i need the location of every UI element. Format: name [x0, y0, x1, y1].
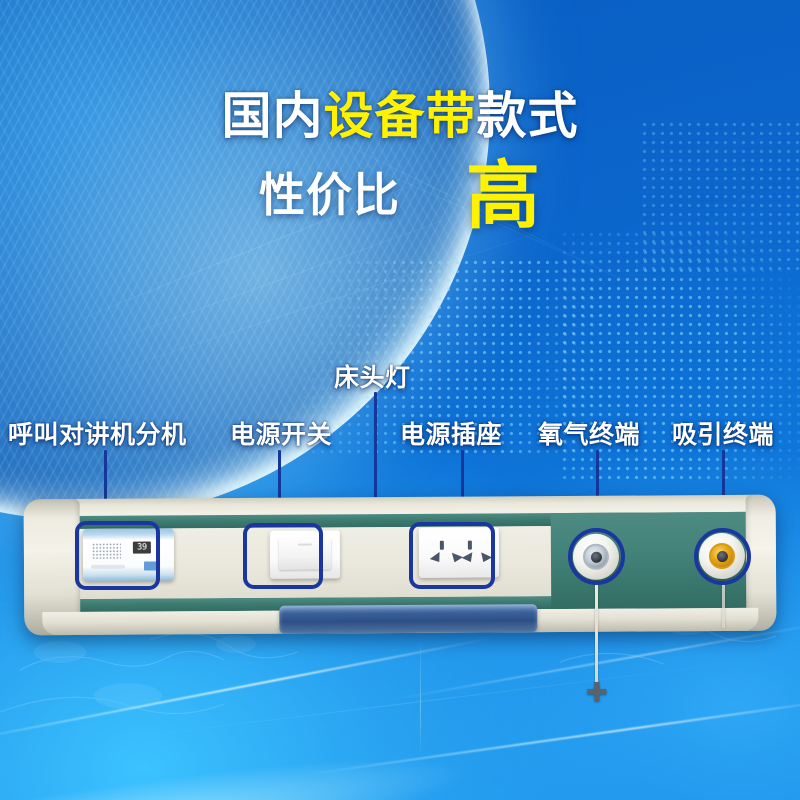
power-socket[interactable]: [419, 527, 499, 577]
headline-line-2: 性价比高: [0, 165, 800, 226]
socket-prong-icon: [449, 553, 463, 565]
socket-prong-icon: [430, 552, 444, 565]
headline-line-2-highlight: 高: [466, 154, 541, 237]
headline-line-1-part2: 款式: [477, 88, 579, 144]
nurse-call-intercom-unit[interactable]: 39: [83, 528, 174, 581]
suction-terminal-core: [709, 543, 735, 569]
callout-label-oxygen: 氧气终端: [538, 415, 640, 451]
terminal-lanyard: [722, 584, 725, 628]
speaker-grille-icon: [92, 543, 121, 559]
panel-body: 39: [24, 495, 777, 636]
suction-terminal[interactable]: [699, 533, 745, 579]
terminal-port-icon: [590, 551, 601, 562]
medical-bed-head-unit: 39: [24, 497, 776, 633]
socket-prong-icon: [462, 552, 476, 565]
socket-pin-icon: [440, 541, 444, 550]
intercom-call-button[interactable]: [144, 561, 157, 570]
product-banner: 国内设备带款式 性价比高 呼叫对讲机分机 电源开关 床头灯 电源插座 氧气终端 …: [0, 0, 800, 800]
pull-cord[interactable]: [595, 584, 598, 692]
callout-label-suction: 吸引终端: [672, 415, 774, 451]
intercom-display: 39: [133, 542, 151, 554]
headline-line-1: 国内设备带款式: [0, 88, 800, 144]
callout-label-bedlamp: 床头灯: [334, 358, 411, 394]
oxygen-terminal[interactable]: [573, 534, 619, 580]
terminal-port-icon: [716, 550, 727, 561]
callout-label-socket: 电源插座: [400, 415, 502, 451]
pull-cord-pendant-icon[interactable]: ✚: [586, 679, 608, 705]
callout-label-intercom: 呼叫对讲机分机: [8, 415, 187, 451]
power-switch[interactable]: [270, 530, 340, 578]
oxygen-terminal-core: [583, 544, 609, 570]
socket-prong-icon: [478, 552, 492, 564]
headline-line-1-part1: 国内: [222, 88, 324, 144]
headline-line-1-highlight: 设备带: [324, 88, 477, 144]
indicator-led-icon: [156, 544, 160, 548]
intercom-slot: [91, 565, 125, 569]
switch-rocker[interactable]: [279, 538, 331, 569]
bed-lamp-diffuser[interactable]: [279, 604, 537, 634]
switch-dimple-icon: [298, 544, 312, 546]
socket-pin-icon: [468, 541, 472, 550]
callout-label-switch: 电源开关: [230, 415, 332, 451]
headline-line-2-part1: 性价比: [259, 169, 400, 221]
